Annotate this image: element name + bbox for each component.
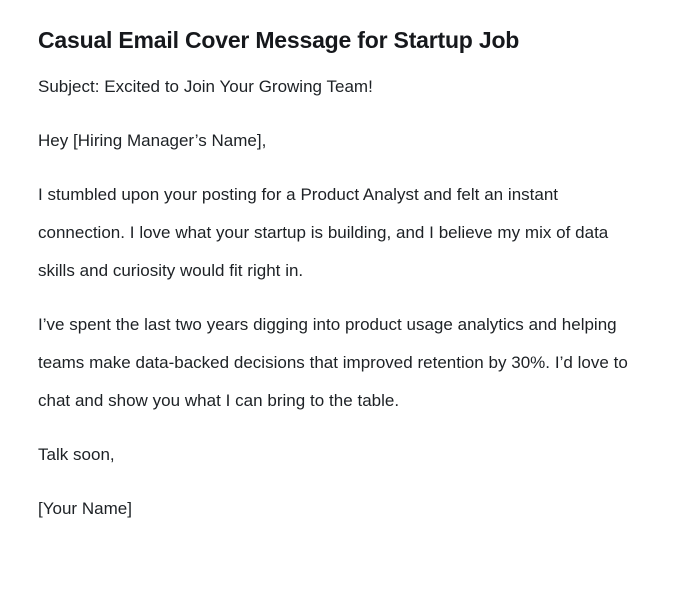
salutation: Hey [Hiring Manager’s Name], — [38, 106, 635, 160]
body-paragraph-1: I stumbled upon your posting for a Produ… — [38, 160, 635, 290]
signature: [Your Name] — [38, 474, 635, 528]
body-paragraph-2: I’ve spent the last two years digging in… — [38, 290, 635, 420]
document-body: Casual Email Cover Message for Startup J… — [38, 0, 638, 528]
sign-off: Talk soon, — [38, 420, 635, 474]
page-title: Casual Email Cover Message for Startup J… — [38, 0, 638, 54]
document-page: Casual Email Cover Message for Startup J… — [0, 0, 700, 601]
subject-line: Subject: Excited to Join Your Growing Te… — [38, 54, 635, 106]
